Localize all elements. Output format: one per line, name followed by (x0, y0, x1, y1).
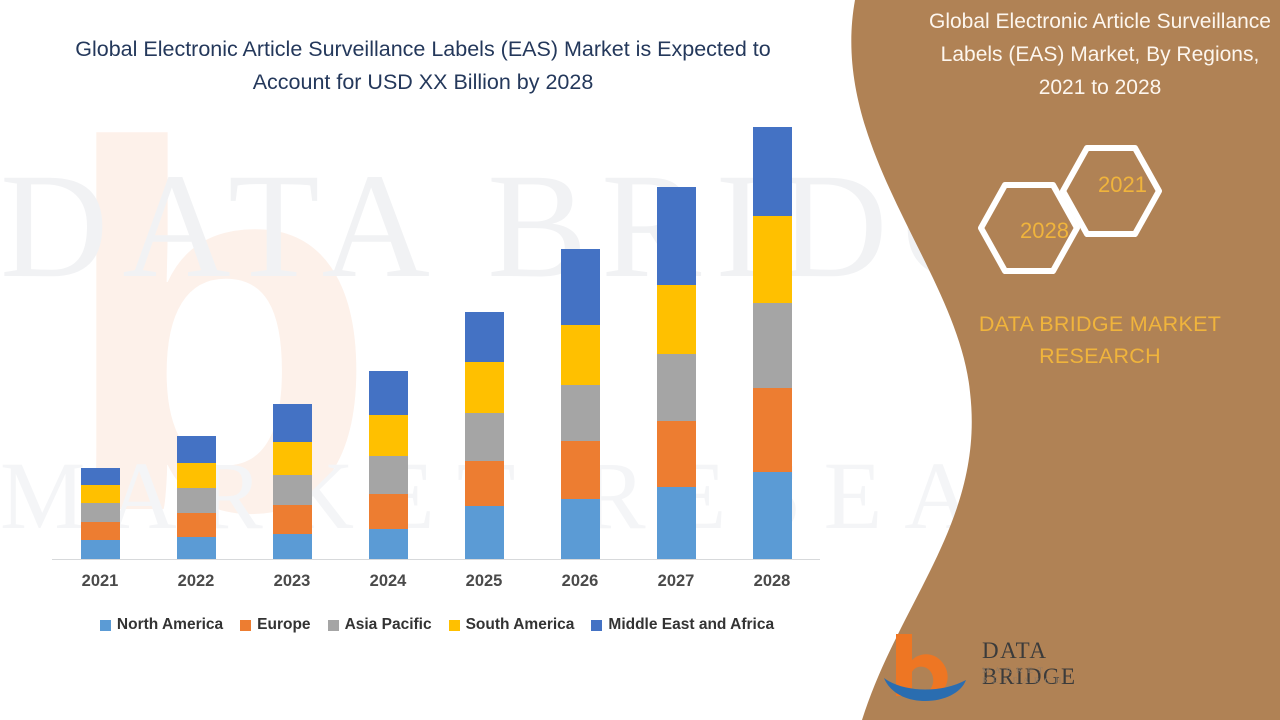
stacked-bar-2028[interactable] (753, 127, 792, 559)
bar-segment[interactable] (273, 534, 312, 559)
x-axis-label-2026: 2026 (532, 572, 628, 591)
bar-segment[interactable] (465, 312, 504, 362)
slide-canvas: b DATA BRIDGE MARKET RESEARCH Global Ele… (0, 0, 1280, 720)
bar-segment[interactable] (753, 303, 792, 388)
legend-label: Middle East and Africa (608, 616, 774, 634)
bar-segment[interactable] (177, 537, 216, 559)
legend-item[interactable]: Asia Pacific (328, 616, 432, 634)
bar-segment[interactable] (657, 487, 696, 559)
legend-swatch-icon (100, 620, 111, 631)
bar-segment[interactable] (369, 415, 408, 456)
bar-segment[interactable] (177, 513, 216, 537)
legend-swatch-icon (328, 620, 339, 631)
bar-segment[interactable] (753, 472, 792, 559)
bar-segment[interactable] (81, 522, 120, 541)
bar-segment[interactable] (177, 488, 216, 512)
stacked-bar-2026[interactable] (561, 249, 600, 559)
hexagon-2021-label: 2021 (1098, 172, 1147, 198)
x-axis-label-2024: 2024 (340, 572, 436, 591)
bar-segment[interactable] (657, 354, 696, 421)
chart-title: Global Electronic Article Surveillance L… (52, 33, 794, 99)
bar-segment[interactable] (81, 485, 120, 504)
bar-segment[interactable] (465, 413, 504, 460)
bar-segment[interactable] (753, 388, 792, 473)
bar-segment[interactable] (657, 285, 696, 354)
bar-segment[interactable] (465, 461, 504, 506)
bar-segment[interactable] (465, 362, 504, 413)
bar-slot (52, 120, 148, 559)
bar-group (52, 120, 820, 559)
bar-segment[interactable] (81, 540, 120, 559)
bar-segment[interactable] (561, 325, 600, 385)
bar-segment[interactable] (369, 529, 408, 559)
legend-swatch-icon (449, 620, 460, 631)
bar-segment[interactable] (561, 499, 600, 559)
brand-name: DATA BRIDGE MARKET RESEARCH (920, 308, 1280, 372)
panel-content: Global Electronic Article Surveillance L… (930, 0, 1280, 720)
bar-segment[interactable] (273, 475, 312, 505)
bar-segment[interactable] (81, 503, 120, 522)
x-axis-label-2027: 2027 (628, 572, 724, 591)
bar-segment[interactable] (561, 385, 600, 441)
x-axis-label-2028: 2028 (724, 572, 820, 591)
bar-segment[interactable] (177, 463, 216, 488)
legend-item[interactable]: Europe (240, 616, 310, 634)
legend-item[interactable]: South America (449, 616, 575, 634)
bar-segment[interactable] (465, 506, 504, 559)
hexagon-badges: 2021 2028 (935, 140, 1275, 280)
stacked-bar-2023[interactable] (273, 404, 312, 559)
bar-slot (148, 120, 244, 559)
bar-segment[interactable] (657, 187, 696, 284)
bar-slot (340, 120, 436, 559)
stacked-bar-2025[interactable] (465, 312, 504, 559)
legend-label: South America (466, 616, 575, 634)
stacked-bar-2021[interactable] (81, 468, 120, 559)
bar-segment[interactable] (657, 421, 696, 487)
legend-label: Europe (257, 616, 310, 634)
chart-plot-area (52, 120, 820, 560)
panel-title: Global Electronic Article Surveillance L… (920, 5, 1280, 104)
bar-segment[interactable] (177, 436, 216, 463)
stacked-bar-2022[interactable] (177, 436, 216, 559)
legend-item[interactable]: North America (100, 616, 223, 634)
bar-segment[interactable] (369, 494, 408, 529)
legend-label: North America (117, 616, 223, 634)
legend-label: Asia Pacific (345, 616, 432, 634)
bar-slot (724, 120, 820, 559)
bar-segment[interactable] (753, 127, 792, 216)
bar-slot (532, 120, 628, 559)
stacked-bar-2027[interactable] (657, 187, 696, 559)
x-axis-label-2023: 2023 (244, 572, 340, 591)
bar-segment[interactable] (273, 505, 312, 534)
hexagon-2028-label: 2028 (1020, 218, 1069, 244)
x-axis-line (52, 559, 820, 560)
logo-tagline: MARKET RESEARCH (982, 665, 1128, 685)
chart-legend: North AmericaEuropeAsia PacificSouth Ame… (52, 616, 822, 634)
bar-segment[interactable] (369, 371, 408, 415)
bar-segment[interactable] (273, 404, 312, 442)
stacked-bar-2024[interactable] (369, 371, 408, 559)
company-logo: DATA BRIDGE MARKET RESEARCH (878, 630, 1128, 702)
bar-segment[interactable] (369, 456, 408, 494)
x-axis-labels: 20212022202320242025202620272028 (52, 572, 820, 591)
logo-b-mark (896, 634, 948, 696)
bar-segment[interactable] (81, 468, 120, 485)
legend-swatch-icon (591, 620, 602, 631)
bar-slot (628, 120, 724, 559)
legend-swatch-icon (240, 620, 251, 631)
bar-segment[interactable] (753, 216, 792, 303)
bar-segment[interactable] (273, 442, 312, 474)
x-axis-label-2022: 2022 (148, 572, 244, 591)
x-axis-label-2025: 2025 (436, 572, 532, 591)
x-axis-label-2021: 2021 (52, 572, 148, 591)
bar-segment[interactable] (561, 441, 600, 499)
legend-item[interactable]: Middle East and Africa (591, 616, 774, 634)
bar-segment[interactable] (561, 249, 600, 325)
bar-slot (436, 120, 532, 559)
bar-slot (244, 120, 340, 559)
